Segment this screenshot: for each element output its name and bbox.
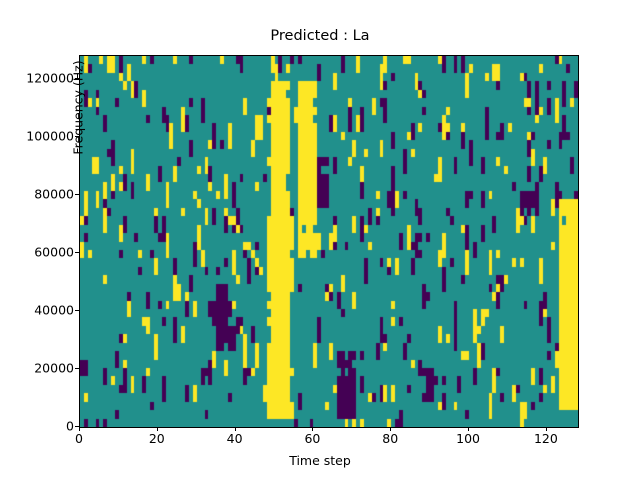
x-tick-mark (546, 427, 547, 431)
y-tick-label: 0 (66, 419, 74, 434)
y-tick-mark (75, 310, 79, 311)
y-tick-label: 40000 (34, 303, 74, 318)
y-tick-mark (75, 368, 79, 369)
y-axis-label: Frequency (Hz) (71, 0, 86, 248)
y-tick-label: 60000 (34, 245, 74, 260)
x-tick-label: 0 (75, 431, 83, 446)
x-tick-label: 100 (456, 431, 480, 446)
x-tick-mark (157, 427, 158, 431)
figure-canvas: Predicted : La 0200004000060000800001000… (0, 0, 640, 480)
x-tick-mark (312, 427, 313, 431)
heatmap-plot-area[interactable] (79, 55, 579, 428)
x-tick-mark (390, 427, 391, 431)
x-tick-mark (235, 427, 236, 431)
y-tick-label: 80000 (34, 187, 74, 202)
x-tick-label: 120 (534, 431, 558, 446)
heatmap-image (80, 56, 578, 427)
y-tick-label: 120000 (26, 71, 74, 86)
x-tick-mark (79, 427, 80, 431)
x-axis-label: Time step (0, 453, 640, 468)
x-tick-label: 80 (382, 431, 398, 446)
x-tick-mark (468, 427, 469, 431)
x-tick-label: 20 (149, 431, 165, 446)
x-tick-label: 40 (227, 431, 243, 446)
y-tick-mark (75, 252, 79, 253)
x-tick-label: 60 (304, 431, 320, 446)
chart-title: Predicted : La (0, 28, 640, 44)
y-tick-label: 100000 (26, 129, 74, 144)
y-tick-label: 20000 (34, 361, 74, 376)
